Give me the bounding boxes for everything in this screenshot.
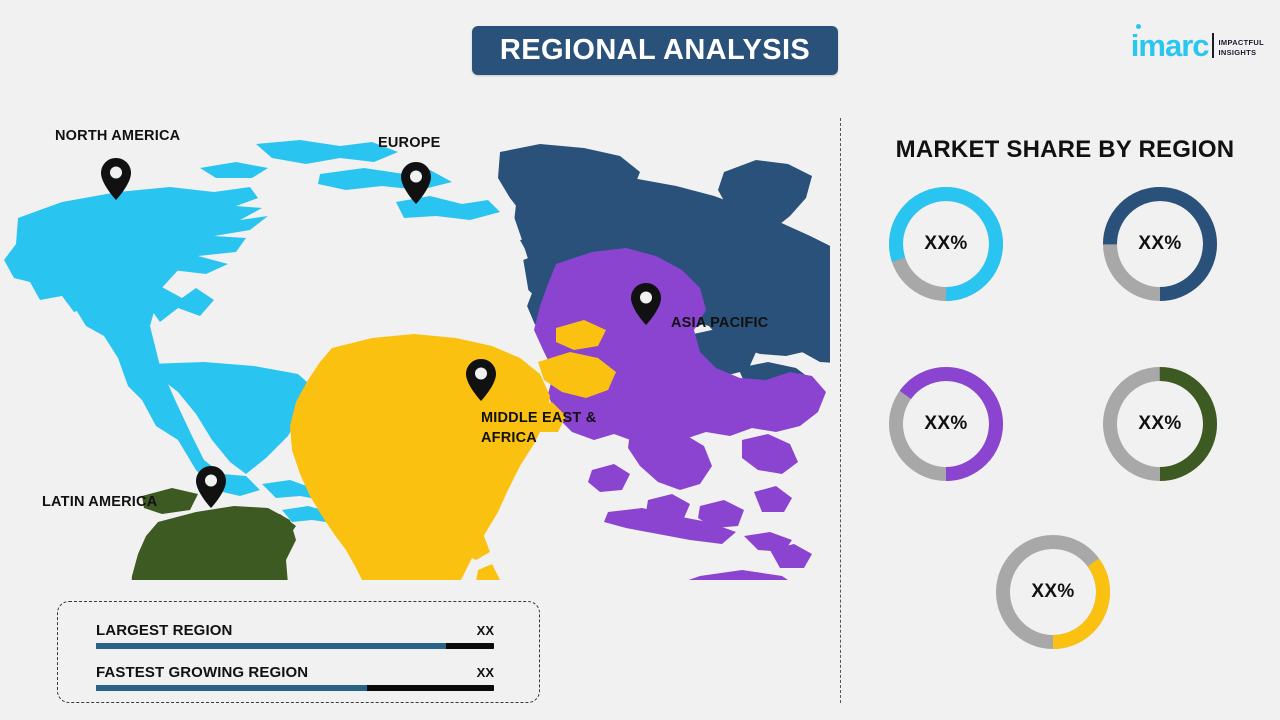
map-pin-asia-pacific[interactable] [631,283,661,325]
imarc-logo: imarc IMPACTFUL INSIGHTS [1131,20,1264,60]
legend-row-largest-region: LARGEST REGION XX [96,622,494,649]
map-label-north-america: NORTH AMERICA [55,126,180,146]
map-pin-north-america[interactable] [101,158,131,200]
donut-value-label: XX% [880,358,1012,490]
donut-value-label: XX% [1094,178,1226,310]
map-region-middle-east-africa[interactable] [290,320,616,580]
donut-chart-latin-america[interactable]: XX% [1094,358,1226,490]
map-label-europe: EUROPE [378,133,440,153]
map-pin-europe[interactable] [401,162,431,204]
donut-chart-europe[interactable]: XX% [1094,178,1226,310]
legend-bar-largest-region [96,643,494,649]
map-pin-latin-america[interactable] [196,466,226,508]
page-title-banner: REGIONAL ANALYSIS [472,26,838,75]
donut-value-label: XX% [880,178,1012,310]
donut-value-label: XX% [1094,358,1226,490]
panel-title: MARKET SHARE BY REGION [890,136,1240,164]
legend-bar-fill-largest-region [96,643,446,649]
map-label-asia-pacific: ASIA PACIFIC [671,313,768,333]
world-map-svg [0,140,830,580]
logo-word: imarc [1131,32,1209,60]
vertical-divider [840,118,841,703]
logo-tagline-line2: INSIGHTS [1219,48,1264,58]
map-label-middle-east-africa: MIDDLE EAST & AFRICA [481,408,596,448]
world-map: NORTH AMERICA EUROPE ASIA PACIFIC MIDDLE… [0,140,830,580]
map-pin-middle-east-africa[interactable] [466,359,496,401]
donut-chart-north-america[interactable]: XX% [880,178,1012,310]
page-title: REGIONAL ANALYSIS [500,34,810,67]
legend-value-largest-region: XX [477,623,494,638]
market-share-donuts: XX%XX%XX%XX%XX% [860,178,1260,698]
logo-tagline-line1: IMPACTFUL [1219,38,1264,48]
region-summary-box: LARGEST REGION XX FASTEST GROWING REGION… [57,601,540,703]
donut-chart-middle-east-africa[interactable]: XX% [987,526,1119,658]
map-label-latin-america: LATIN AMERICA [42,492,157,512]
legend-value-fastest-growing-region: XX [477,665,494,680]
legend-row-fastest-growing-region: FASTEST GROWING REGION XX [96,664,494,691]
logo-divider [1212,33,1214,58]
logo-dot-icon [1136,24,1141,29]
donut-chart-asia-pacific[interactable]: XX% [880,358,1012,490]
legend-bar-fill-fastest-growing-region [96,685,367,691]
logo-tagline: IMPACTFUL INSIGHTS [1219,38,1264,60]
legend-label-largest-region: LARGEST REGION [96,622,232,639]
legend-bar-fastest-growing-region [96,685,494,691]
legend-label-fastest-growing-region: FASTEST GROWING REGION [96,664,308,681]
donut-value-label: XX% [987,526,1119,658]
logo-wordmark: imarc [1131,32,1209,60]
